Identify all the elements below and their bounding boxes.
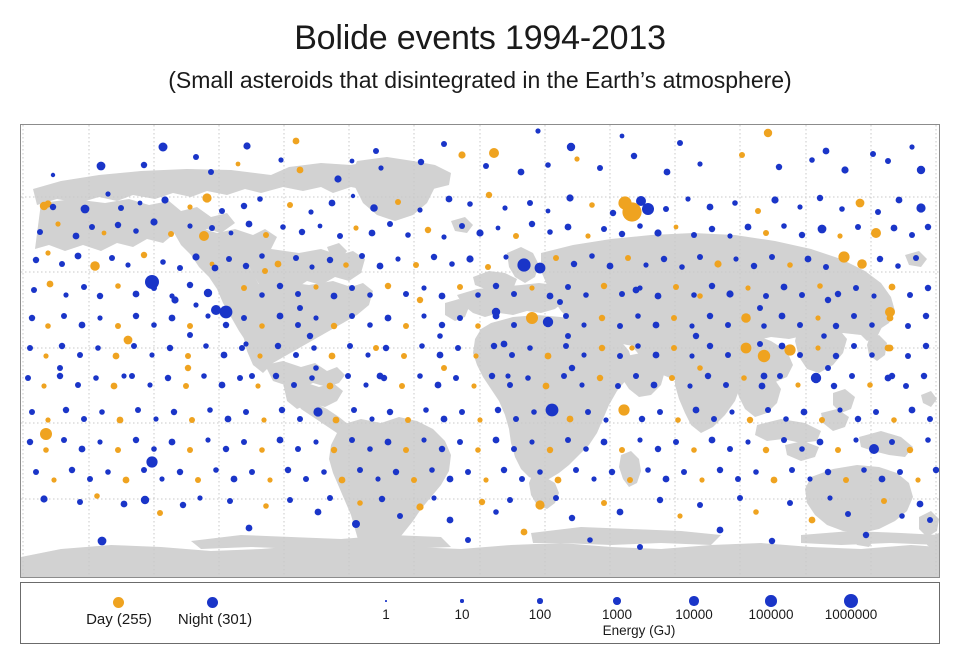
bolide-point xyxy=(329,200,336,207)
bolide-point xyxy=(870,151,876,157)
bolide-point xyxy=(759,383,766,390)
bolide-point xyxy=(202,193,211,202)
bolide-point xyxy=(157,510,163,516)
bolide-point xyxy=(95,345,101,351)
bolide-point xyxy=(205,437,210,442)
bolide-point xyxy=(169,439,176,446)
size-scale-label: 1000000 xyxy=(825,607,878,622)
bolide-point xyxy=(359,253,365,259)
bolide-point xyxy=(758,350,770,362)
bolide-point xyxy=(511,446,517,452)
bolide-point xyxy=(349,313,355,319)
page-subtitle: (Small asteroids that disintegrated in t… xyxy=(0,65,960,95)
bolide-point xyxy=(331,447,337,453)
bolide-point xyxy=(655,446,661,452)
bolide-point xyxy=(795,382,800,387)
bolide-point xyxy=(308,209,313,214)
bolide-point xyxy=(583,446,589,452)
bolide-point xyxy=(642,203,654,215)
bolide-point xyxy=(869,322,875,328)
bolide-point xyxy=(687,383,692,388)
bolide-point xyxy=(492,308,500,316)
bolide-point xyxy=(313,315,318,320)
bolide-point xyxy=(441,365,447,371)
bolide-point xyxy=(278,157,283,162)
bolide-point xyxy=(187,223,192,228)
bolide-point xyxy=(797,204,802,209)
bolide-point xyxy=(69,467,75,473)
bolide-point xyxy=(449,261,455,267)
bolide-point xyxy=(645,467,651,473)
bolide-point xyxy=(591,476,596,481)
bolide-point xyxy=(653,322,660,329)
bolide-point xyxy=(871,228,881,238)
bolide-point xyxy=(889,439,895,445)
bolide-point xyxy=(529,285,534,290)
bolide-point xyxy=(259,447,265,453)
bolide-point xyxy=(413,262,419,268)
bolide-point xyxy=(817,195,823,201)
bolide-point xyxy=(146,456,157,467)
bolide-point xyxy=(141,467,147,473)
bolide-point xyxy=(501,341,508,348)
bolide-point xyxy=(489,148,499,158)
bolide-point xyxy=(187,323,193,329)
bolide-point xyxy=(856,199,865,208)
bolide-point xyxy=(745,224,752,231)
bolide-point xyxy=(189,417,195,423)
bolide-point xyxy=(663,476,670,483)
bolide-point xyxy=(115,283,121,289)
bolide-point xyxy=(133,291,140,298)
bolide-point xyxy=(423,407,429,413)
bolide-point xyxy=(917,501,924,508)
bolide-point xyxy=(125,262,130,267)
bolide-point xyxy=(113,353,120,360)
bolide-point xyxy=(263,232,269,238)
bolide-point xyxy=(171,296,178,303)
bolide-point xyxy=(185,353,191,359)
bolide-point xyxy=(627,477,633,483)
bolide-point xyxy=(757,341,763,347)
size-scale-dot xyxy=(385,600,387,602)
bolide-point xyxy=(581,322,586,327)
bolide-point xyxy=(711,416,717,422)
bolide-point xyxy=(293,138,300,145)
bolide-point xyxy=(599,315,605,321)
bolide-point xyxy=(241,203,247,209)
bolide-point xyxy=(835,447,841,453)
bolide-point xyxy=(187,204,192,209)
bolide-point xyxy=(843,477,849,483)
bolide-point xyxy=(123,477,130,484)
bolide-point xyxy=(387,221,393,227)
bolide-point xyxy=(262,268,268,274)
bolide-point xyxy=(185,365,191,371)
bolide-point xyxy=(553,255,559,261)
bolide-point xyxy=(287,497,293,503)
bolide-point xyxy=(519,476,525,482)
bolide-point xyxy=(566,194,573,201)
bolide-point xyxy=(93,375,99,381)
bolide-point xyxy=(275,343,281,349)
legend-night-label: Night (301) xyxy=(178,611,252,628)
bolide-point xyxy=(207,407,213,413)
bolide-point xyxy=(349,437,355,443)
bolide-point xyxy=(561,373,567,379)
bolide-point xyxy=(671,315,677,321)
bolide-point xyxy=(609,469,615,475)
bolide-point xyxy=(771,196,778,203)
bolide-point xyxy=(601,226,607,232)
bolide-point xyxy=(891,225,898,232)
bolide-point xyxy=(447,476,454,483)
bolide-point xyxy=(491,343,497,349)
bolide-point xyxy=(831,383,837,389)
bolide-point xyxy=(167,345,173,351)
bolide-point xyxy=(907,447,913,453)
bolide-point xyxy=(97,315,102,320)
bolide-point xyxy=(729,409,734,414)
bolide-point xyxy=(437,352,444,359)
bolide-point xyxy=(507,382,513,388)
bolide-point xyxy=(817,283,823,289)
bolide-point xyxy=(249,469,255,475)
bolide-point xyxy=(603,417,608,422)
bolide-point xyxy=(246,525,253,532)
bolide-point xyxy=(79,446,86,453)
bolide-point xyxy=(385,283,391,289)
bolide-point xyxy=(789,467,795,473)
bolide-point xyxy=(781,437,787,443)
bolide-point xyxy=(259,253,265,259)
bolide-point xyxy=(841,166,848,173)
bolide-point xyxy=(861,467,867,473)
bolide-point xyxy=(373,345,379,351)
bolide-point xyxy=(837,233,842,238)
bolide-point xyxy=(87,476,93,482)
bolide-point xyxy=(661,256,667,262)
bolide-point xyxy=(807,476,812,481)
bolide-point xyxy=(779,313,786,320)
bolide-point xyxy=(707,204,714,211)
bolide-point xyxy=(637,437,642,442)
bolide-point xyxy=(565,284,571,290)
bolide-point xyxy=(691,447,697,453)
bolide-point xyxy=(885,158,891,164)
bolide-point xyxy=(546,209,551,214)
bolide-point xyxy=(618,404,629,415)
bolide-point xyxy=(219,208,225,214)
bolide-point xyxy=(403,291,409,297)
bolide-point xyxy=(459,223,465,229)
bolide-point xyxy=(777,373,783,379)
bolide-point xyxy=(467,201,473,207)
bolide-point xyxy=(855,416,861,422)
bolide-point xyxy=(547,447,553,453)
bolide-point xyxy=(483,477,488,482)
bolide-point xyxy=(486,192,492,198)
bolide-point xyxy=(567,143,575,151)
bolide-point xyxy=(187,447,193,453)
legend-panel: Day (255) Night (301) 110100100010000100… xyxy=(20,582,940,644)
bolide-point xyxy=(643,262,648,267)
size-scale-label: 1 xyxy=(382,607,390,622)
bolide-point xyxy=(473,353,478,358)
bolide-point xyxy=(115,222,121,228)
bolide-point xyxy=(97,439,102,444)
bolide-point xyxy=(617,323,623,329)
bolide-point xyxy=(653,352,660,359)
bolide-point xyxy=(697,365,703,371)
size-scale-dot xyxy=(765,595,777,607)
bolide-point xyxy=(909,407,916,414)
bolide-point xyxy=(425,227,431,233)
bolide-point xyxy=(457,284,463,290)
bolide-point xyxy=(517,258,530,271)
bolide-point xyxy=(441,141,447,147)
bolide-point xyxy=(620,134,625,139)
bolide-point xyxy=(867,382,873,388)
bolide-point xyxy=(458,151,465,158)
bolide-point xyxy=(129,373,135,379)
bolide-point xyxy=(208,169,214,175)
bolide-point xyxy=(811,373,821,383)
bolide-point xyxy=(109,255,115,261)
bolide-point xyxy=(327,383,334,390)
bolide-point xyxy=(45,323,51,329)
bolide-point xyxy=(387,409,393,415)
bolide-point xyxy=(787,262,793,268)
bolide-point xyxy=(697,254,703,260)
bolide-point xyxy=(805,256,812,263)
bolide-point xyxy=(622,202,641,221)
bolide-point xyxy=(717,527,724,534)
bolide-point xyxy=(525,375,531,381)
bolide-point xyxy=(81,284,87,290)
bolide-point xyxy=(581,352,586,357)
bolide-point xyxy=(573,467,579,473)
bolide-point xyxy=(769,254,775,260)
size-scale-label: 1000 xyxy=(602,607,632,622)
bolide-point xyxy=(220,306,233,319)
bolide-point xyxy=(745,439,750,444)
bolide-point xyxy=(619,447,625,453)
bolide-point xyxy=(723,382,729,388)
bolide-point xyxy=(891,417,897,423)
bolide-point xyxy=(27,345,33,351)
bolide-point xyxy=(307,333,313,339)
bolide-point xyxy=(431,495,436,500)
bolide-point xyxy=(717,467,723,473)
bolide-point xyxy=(375,476,380,481)
bolide-point xyxy=(367,446,373,452)
bolide-point xyxy=(815,345,820,350)
legend-day-label: Day (255) xyxy=(86,611,152,628)
bolide-point xyxy=(193,154,199,160)
bolide-point xyxy=(201,373,207,379)
bolide-point xyxy=(889,373,895,379)
bolide-point xyxy=(527,345,533,351)
bolide-point xyxy=(783,416,789,422)
bolide-point xyxy=(639,416,645,422)
bolide-point xyxy=(199,231,209,241)
bolide-point xyxy=(327,257,333,263)
bolide-point xyxy=(521,529,528,536)
bolide-point xyxy=(259,323,265,329)
page-title: Bolide events 1994-2013 xyxy=(0,18,960,58)
bolide-point xyxy=(579,382,584,387)
bolide-point xyxy=(287,202,293,208)
bolide-point xyxy=(75,382,81,388)
bolide-point xyxy=(417,297,423,303)
bolide-point xyxy=(299,229,305,235)
bolide-point xyxy=(923,313,929,319)
bolide-point xyxy=(257,353,262,358)
bolide-point xyxy=(275,261,282,268)
bolide-point xyxy=(313,439,318,444)
bolide-point xyxy=(457,439,463,445)
bolide-point xyxy=(691,292,697,298)
size-scale-label: 100 xyxy=(529,607,552,622)
size-scale-label: 100000 xyxy=(748,607,793,622)
bolide-point xyxy=(231,476,238,483)
bolide-point xyxy=(211,305,221,315)
legend-night-swatch xyxy=(207,597,218,608)
bolide-point xyxy=(797,322,803,328)
bolide-point xyxy=(535,500,544,509)
bolide-point xyxy=(651,382,658,389)
bolide-point xyxy=(526,312,538,324)
bolide-point xyxy=(745,285,750,290)
bolide-point xyxy=(369,416,374,421)
bolide-point xyxy=(565,224,572,231)
bolide-point xyxy=(741,313,751,323)
bolide-point xyxy=(209,225,215,231)
size-scale-dot xyxy=(689,596,698,605)
bolide-point xyxy=(352,520,360,528)
bolide-point xyxy=(439,293,446,300)
bolide-point xyxy=(905,323,911,329)
bolide-point xyxy=(569,365,575,371)
bolide-point xyxy=(817,439,824,446)
bolide-point xyxy=(303,476,309,482)
bolide-point xyxy=(441,234,446,239)
bolide-point xyxy=(707,313,713,319)
bolide-point xyxy=(513,233,519,239)
bolide-point xyxy=(151,446,157,452)
bolide-point xyxy=(476,229,483,236)
bolide-point xyxy=(615,383,621,389)
bolide-point xyxy=(89,224,95,230)
bolide-point xyxy=(141,496,149,504)
bolide-point xyxy=(571,261,577,267)
bolide-point xyxy=(297,167,304,174)
bolide-point xyxy=(403,323,409,329)
bolide-point xyxy=(47,281,54,288)
bolide-point xyxy=(675,417,681,423)
bolide-point xyxy=(393,469,399,475)
bolide-point xyxy=(823,148,830,155)
bolide-point xyxy=(493,509,499,515)
bolide-point xyxy=(547,293,554,300)
bolide-point xyxy=(679,264,685,270)
bolide-point xyxy=(631,153,637,159)
bolide-point xyxy=(429,467,435,473)
bolide-point xyxy=(763,230,769,236)
bolide-point xyxy=(875,209,881,215)
bolide-point xyxy=(709,437,716,444)
size-scale-label: 10000 xyxy=(675,607,713,622)
bolide-point xyxy=(115,447,121,453)
bolide-point xyxy=(459,409,465,415)
bolide-point xyxy=(350,159,355,164)
bolide-point xyxy=(714,260,721,267)
bolide-point xyxy=(411,477,417,483)
bolide-point xyxy=(329,353,336,360)
bolide-point xyxy=(118,205,124,211)
bolide-point xyxy=(277,283,283,289)
bolide-point xyxy=(227,498,233,504)
bolide-point xyxy=(153,416,158,421)
bolide-point xyxy=(697,161,702,166)
bolide-point xyxy=(309,264,314,269)
bolide-point xyxy=(869,444,879,454)
bolide-point xyxy=(311,345,317,351)
bolide-point xyxy=(318,224,323,229)
size-scale-label: 10 xyxy=(454,607,469,622)
bolide-point xyxy=(741,375,747,381)
bolide-point xyxy=(889,284,896,291)
bolide-point xyxy=(105,469,111,475)
bolide-point xyxy=(395,199,401,205)
bolide-point xyxy=(757,305,763,311)
bolide-point xyxy=(527,200,533,206)
bolide-point xyxy=(815,315,820,320)
bolide-point xyxy=(81,205,90,214)
bolide-point xyxy=(537,469,543,475)
bolide-point xyxy=(633,373,639,379)
bolide-point xyxy=(493,437,500,444)
bolide-point xyxy=(55,221,60,226)
bolide-point xyxy=(309,375,315,381)
bolide-point xyxy=(739,152,745,158)
bolide-point xyxy=(839,206,845,212)
bolide-point xyxy=(241,439,247,445)
bolide-point xyxy=(121,501,128,508)
bolide-point xyxy=(149,352,154,357)
bolide-point xyxy=(725,322,731,328)
bolide-point xyxy=(781,284,788,291)
bolide-point xyxy=(465,537,471,543)
bolide-point xyxy=(825,469,831,475)
bolide-point xyxy=(776,164,782,170)
bolide-point xyxy=(169,315,176,322)
bolide-point xyxy=(277,313,284,320)
bolide-point xyxy=(557,299,563,305)
bolide-point xyxy=(243,341,248,346)
bolide-point xyxy=(553,495,559,501)
bolide-point xyxy=(25,375,31,381)
bolide-point xyxy=(241,315,247,321)
bolide-point xyxy=(915,477,920,482)
bolide-point xyxy=(726,290,733,297)
bolide-point xyxy=(475,447,481,453)
bolide-point xyxy=(212,265,219,272)
bolide-point xyxy=(509,352,515,358)
bolide-point xyxy=(671,345,677,351)
bolide-point xyxy=(419,343,425,349)
